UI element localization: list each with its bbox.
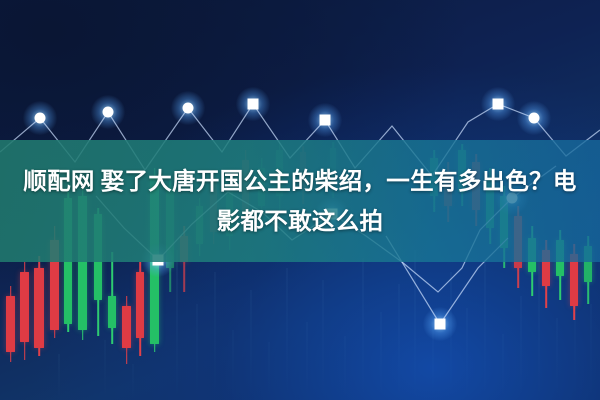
banner-image: 顺配网娶了大唐开国公主的柴绍，一生有多出色？电影都不敢这么拍 [0, 0, 600, 400]
data-point-circle-marker [183, 103, 194, 114]
data-point-circle-marker [35, 113, 46, 124]
data-point-square-marker [248, 99, 259, 110]
headline-body: 娶了大唐开国公主的柴绍，一生有多出色？电影都不敢这么拍 [101, 167, 577, 235]
data-point-square-marker [320, 115, 331, 126]
data-point-circle-marker [529, 113, 540, 124]
headline-container: 顺配网娶了大唐开国公主的柴绍，一生有多出色？电影都不敢这么拍 [0, 140, 600, 262]
brand-name: 顺配网 [23, 167, 94, 195]
headline-text: 顺配网娶了大唐开国公主的柴绍，一生有多出色？电影都不敢这么拍 [14, 161, 586, 241]
data-point-square-marker [435, 319, 446, 330]
data-point-circle-marker [103, 107, 114, 118]
data-point-square-marker [493, 99, 504, 110]
